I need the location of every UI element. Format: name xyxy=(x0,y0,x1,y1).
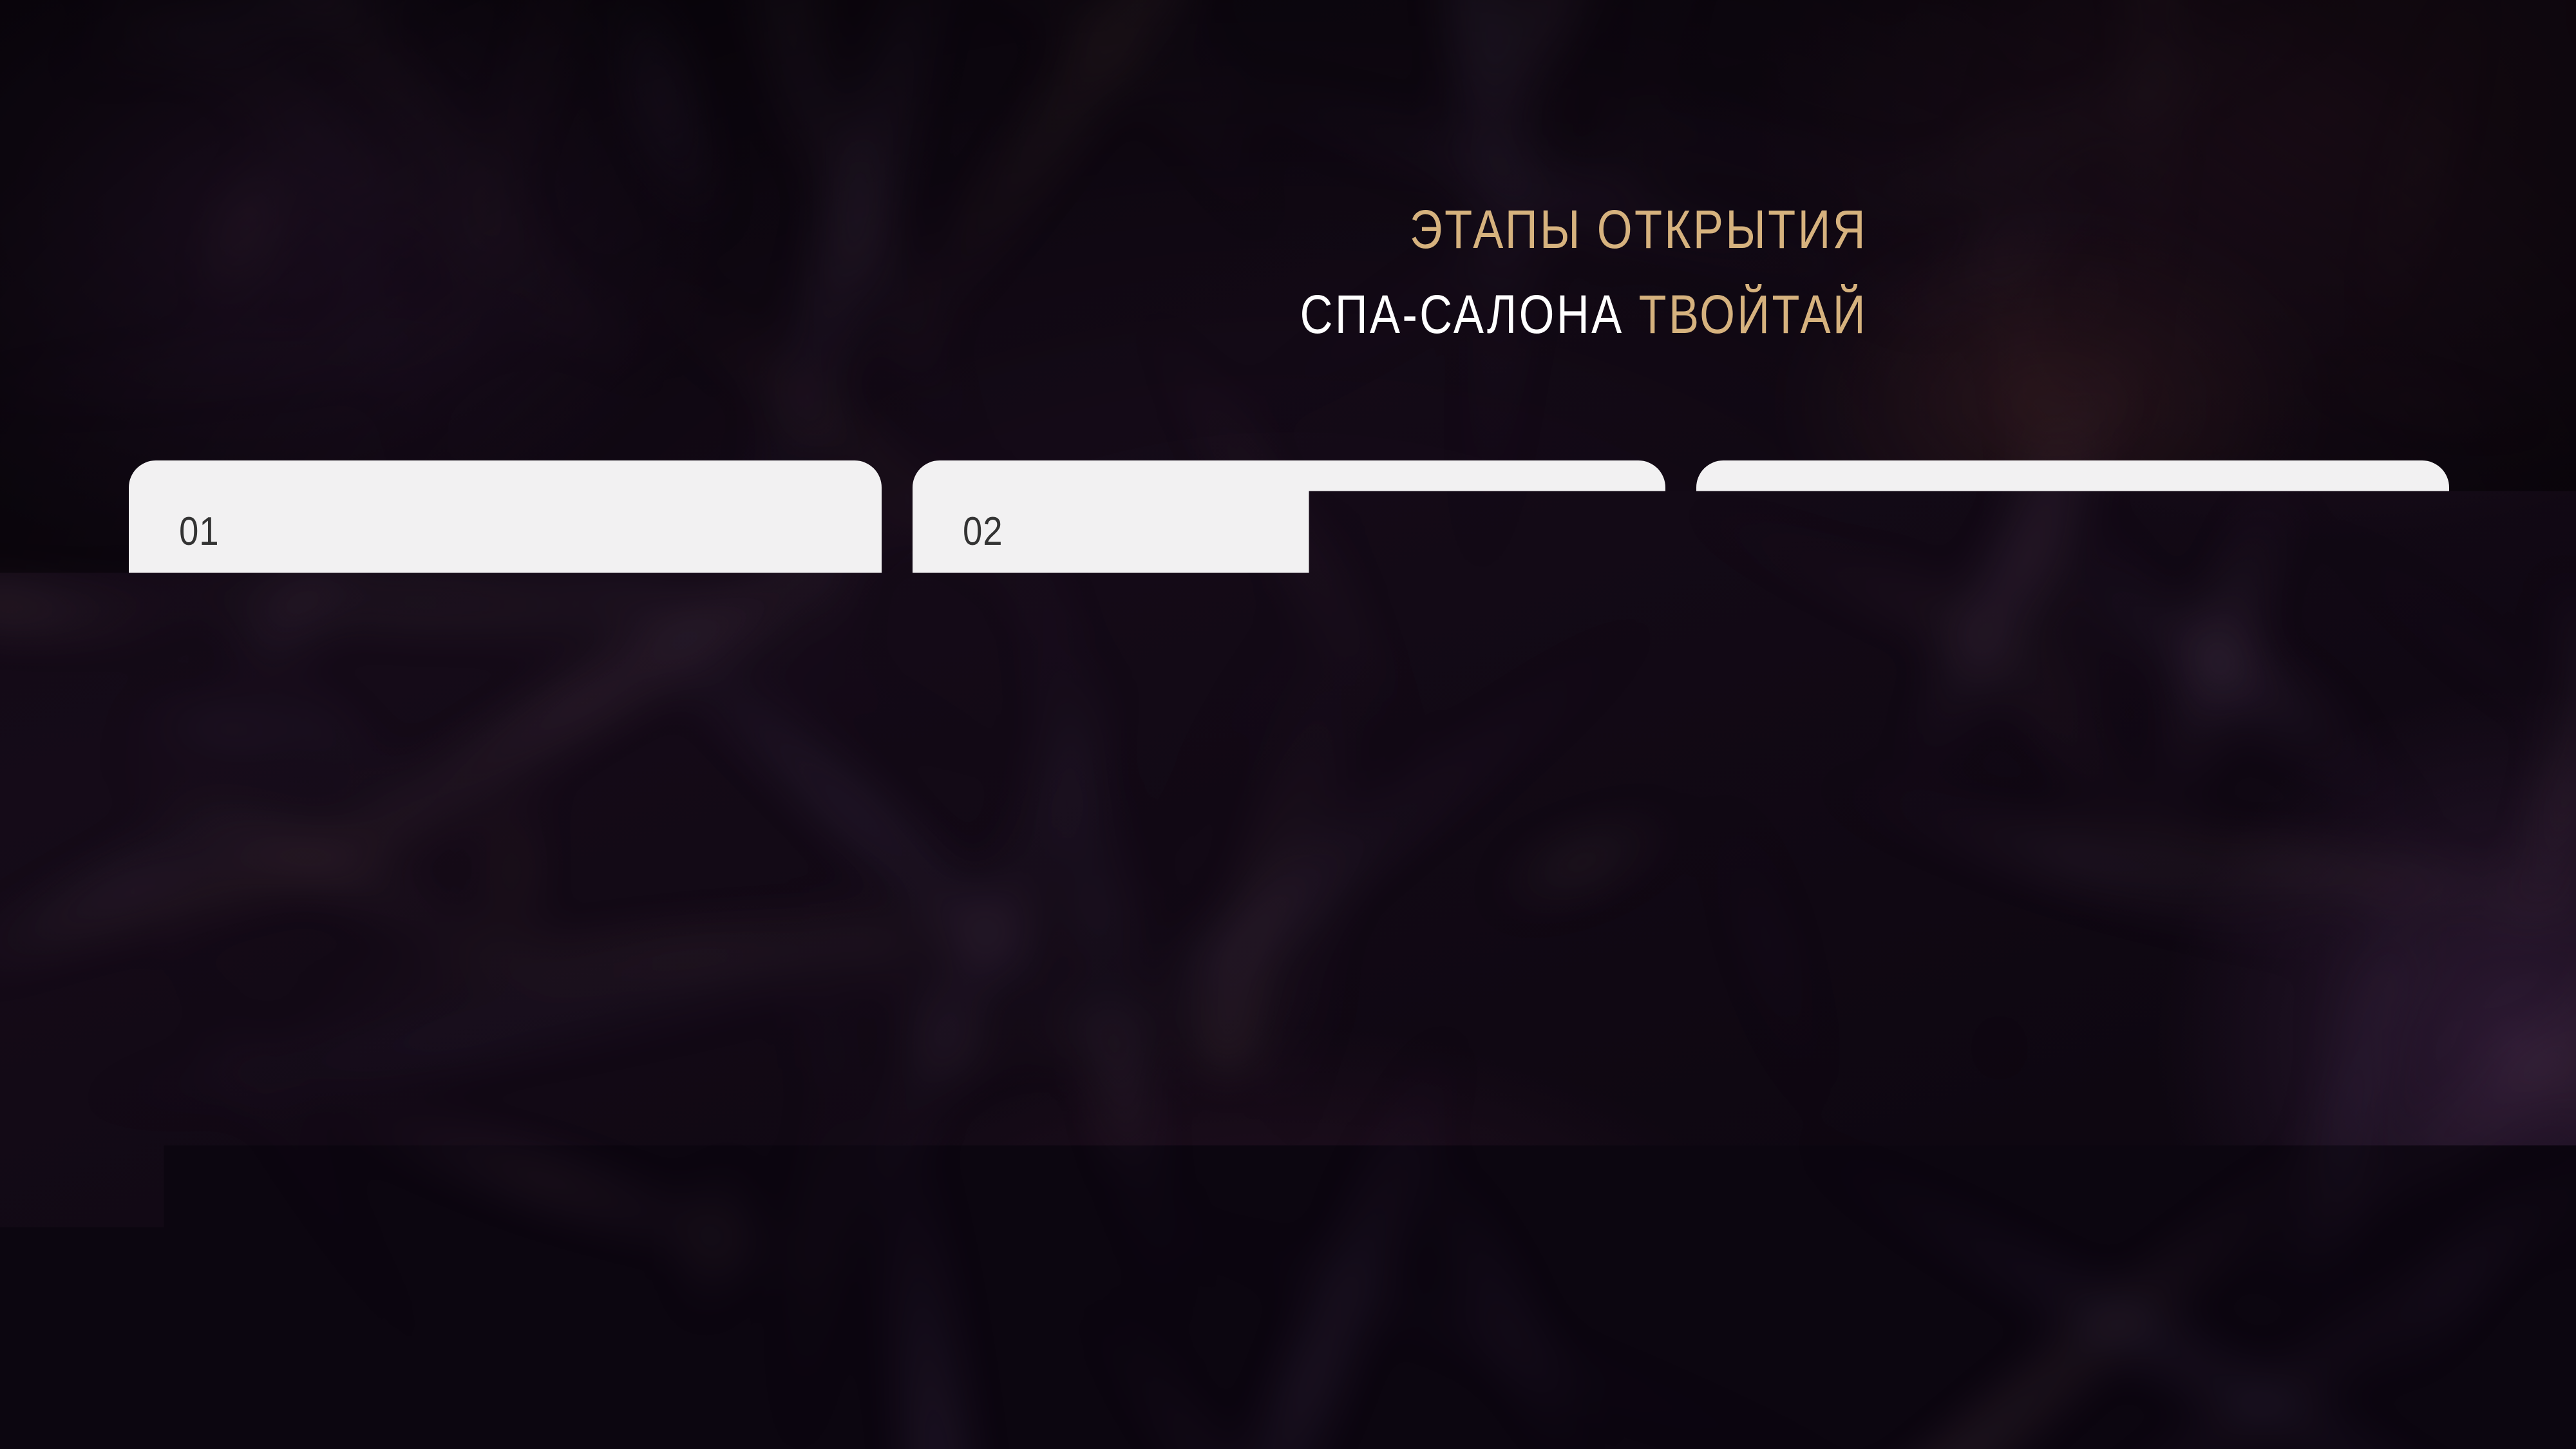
step-number: 02 xyxy=(963,509,1537,554)
slide-root: ЭТАПЫ ОТКРЫТИЯ СПА-САЛОНА ТВОЙТАЙ 01Анал… xyxy=(0,0,2576,1449)
step-description: Ремонтные работы, подготовкапомещения и … xyxy=(963,588,1615,717)
step-number: 04 xyxy=(179,882,753,927)
step-description: Подбор администраторови менеджеров по чё… xyxy=(179,960,831,1046)
step-number: 03 xyxy=(1747,509,2320,554)
step-card: 05Запуск мощной рекламнойкампании к откр… xyxy=(913,833,1665,1171)
step-description-line: Открытие спа-салона xyxy=(1747,960,2399,1003)
step-description-line: Запуск мощной рекламной xyxy=(963,960,1615,1003)
step-card: 06Открытие спа-салонаи приём гостей xyxy=(1696,833,2449,1171)
step-description: Открытие спа-салонаи приём гостей xyxy=(1747,960,2399,1046)
slide-title: ЭТАПЫ ОТКРЫТИЯ СПА-САЛОНА ТВОЙТАЙ xyxy=(0,187,1868,357)
step-number: 06 xyxy=(1747,882,2320,927)
steps-grid: 01Анализ города и поиск помещенияс нашим… xyxy=(129,460,2449,1171)
step-description-line: помещения и оборудования xyxy=(963,631,1615,674)
step-description-line: Подбор администраторов xyxy=(179,960,831,1003)
title-line-secondary: СПА-САЛОНА ТВОЙТАЙ xyxy=(299,272,1868,357)
step-description-line: Анализ города и поиск помещения xyxy=(179,588,831,631)
step-card: 03Привозим лучших мастеровиз Таиланда и … xyxy=(1696,460,2449,799)
step-description: Привозим лучших мастеровиз Таиланда и Ба… xyxy=(1747,588,2399,674)
step-description: Запуск мощной рекламнойкампании к открыт… xyxy=(963,960,1615,1046)
step-card: 04Подбор администраторови менеджеров по … xyxy=(129,833,882,1171)
step-description-line: Ремонтные работы, подготовка xyxy=(963,588,1615,631)
step-number: 05 xyxy=(963,882,1537,927)
step-number: 01 xyxy=(179,509,753,554)
step-description-line: и менеджеров по чётким инструкциям xyxy=(179,1003,831,1046)
step-description-line: Привозим лучших мастеров xyxy=(1747,588,2399,631)
title-line-primary: ЭТАПЫ ОТКРЫТИЯ xyxy=(299,187,1868,272)
step-description-line: кампании к открытию xyxy=(963,1003,1615,1046)
title-brand-name: ТВОЙТАЙ xyxy=(1639,284,1868,345)
title-line-secondary-plain: СПА-САЛОНА xyxy=(1300,284,1638,345)
step-description-line: из Таиланда и Бали xyxy=(1747,631,2399,674)
step-description-line: с нашими инструментами xyxy=(179,631,831,674)
step-card: 01Анализ города и поиск помещенияс нашим… xyxy=(129,460,882,799)
step-description-line: и приём гостей xyxy=(1747,1003,2399,1046)
step-description-line: под нашим авторским контролем xyxy=(963,674,1615,717)
step-card: 02Ремонтные работы, подготовкапомещения … xyxy=(913,460,1665,799)
step-description: Анализ города и поиск помещенияс нашими … xyxy=(179,588,831,674)
